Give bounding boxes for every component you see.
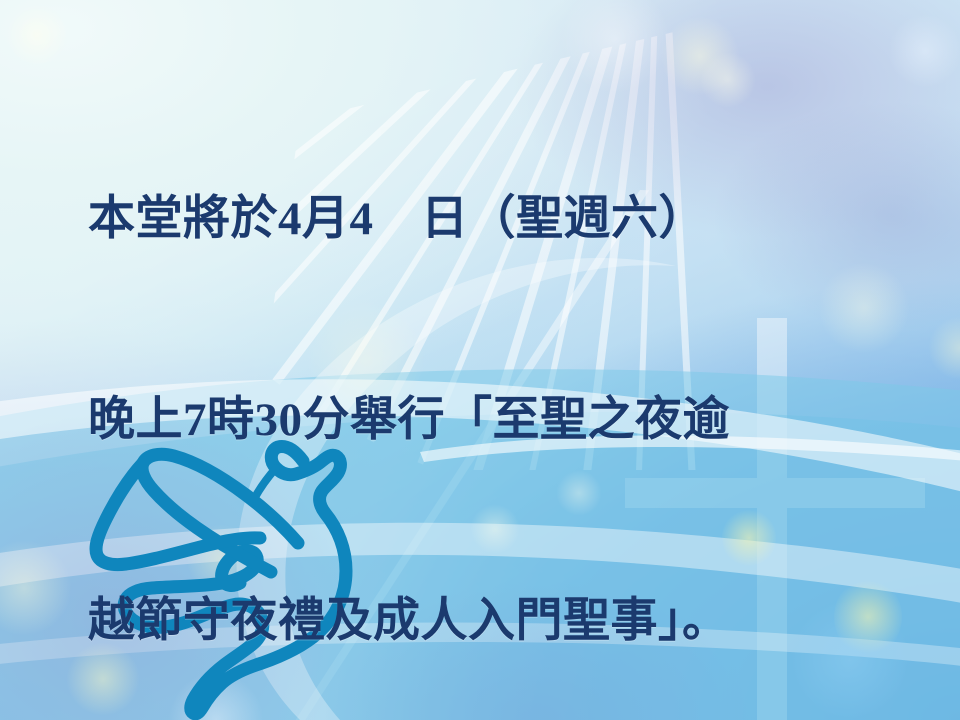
announcement-line-3: 越節守夜禮及成人入門聖事」。: [88, 588, 938, 655]
announcement-slide: 本堂將於4月4 日（聖週六） 晚上7時30分舉行「至聖之夜逾 越節守夜禮及成人入…: [0, 0, 960, 720]
announcement-line-1: 本堂將於4月4 日（聖週六）: [88, 186, 938, 253]
announcement-line-2: 晚上7時30分舉行「至聖之夜逾: [88, 387, 938, 454]
announcement-text: 本堂將於4月4 日（聖週六） 晚上7時30分舉行「至聖之夜逾 越節守夜禮及成人入…: [88, 52, 938, 720]
